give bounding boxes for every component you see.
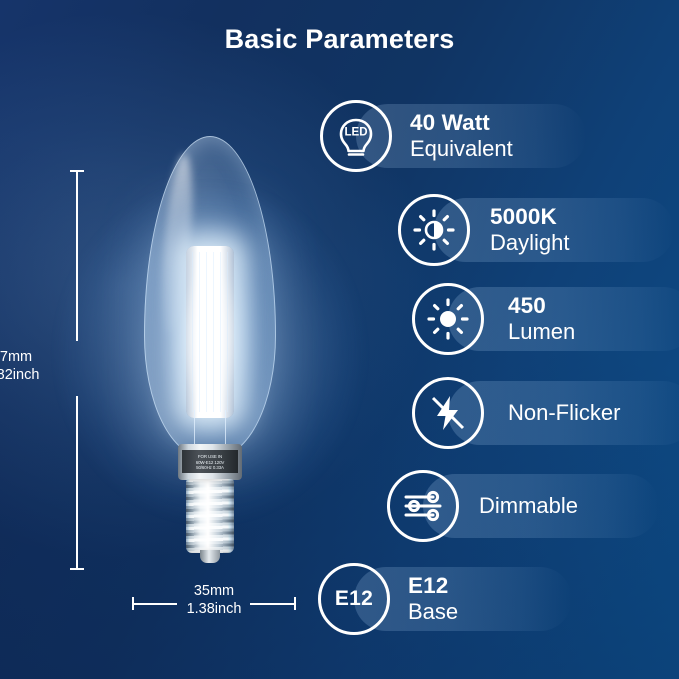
svg-text:LED: LED (345, 127, 368, 139)
base-print-line-3: 50/60Hz 0.33A (196, 465, 224, 470)
spec-text-base: E12 Base (408, 573, 458, 625)
height-dimension-label: 97mm 3.82inch (0, 348, 76, 384)
bulb-screw-threads (186, 479, 234, 553)
product-spec-infographic: Basic Parameters FOR USE IN 60W-E12 120V… (0, 0, 679, 679)
spec-row-color-temperature[interactable]: 5000K Daylight (398, 194, 679, 266)
spec-text-lumen: 450 Lumen (508, 293, 575, 345)
spec-label-wattage: Equivalent (410, 136, 513, 162)
bulb-product-image: FOR USE IN 60W-E12 120V 50/60Hz 0.33A (120, 128, 300, 568)
base-print-line-2: 60W-E12 120V (196, 460, 225, 465)
spec-text-wattage: 40 Watt Equivalent (410, 110, 513, 162)
no-flicker-icon (412, 377, 484, 449)
spec-text-non-flicker: Non-Flicker (508, 400, 620, 426)
spec-row-non-flicker[interactable]: Non-Flicker (412, 377, 679, 449)
brightness-sun-icon (412, 283, 484, 355)
width-line-left (133, 603, 177, 605)
spec-row-lumen[interactable]: 450 Lumen (412, 283, 679, 355)
spec-label-non-flicker: Non-Flicker (508, 400, 620, 426)
base-print-line-1: FOR USE IN (198, 454, 222, 459)
height-line-upper (76, 171, 78, 341)
spec-text-dimmable: Dimmable (479, 493, 578, 519)
width-cap-right (294, 597, 296, 610)
spec-label-base: Base (408, 599, 458, 625)
height-line-lower (76, 396, 78, 568)
spec-value-wattage: 40 Watt (410, 110, 513, 136)
width-dimension-label: 35mm 1.38inch (187, 582, 242, 618)
spec-text-color-temperature: 5000K Daylight (490, 204, 569, 256)
spec-label-dimmable: Dimmable (479, 493, 578, 519)
height-mm: 97mm (0, 349, 32, 365)
height-dimension-line (76, 170, 78, 570)
spec-label-color-temperature: Daylight (490, 230, 569, 256)
height-cap-bottom (70, 568, 84, 570)
bulb-filament-segments (192, 252, 228, 412)
width-inch: 1.38inch (187, 600, 242, 618)
dimmer-sliders-icon (387, 470, 459, 542)
page-title: Basic Parameters (0, 24, 679, 55)
spec-row-dimmable[interactable]: Dimmable (387, 470, 679, 542)
daylight-sun-icon (398, 194, 470, 266)
spec-value-color-temperature: 5000K (490, 204, 569, 230)
bulb-base-tip (200, 550, 220, 563)
spec-label-lumen: Lumen (508, 319, 575, 345)
height-inch: 3.82inch (0, 367, 39, 383)
led-bulb-icon: LED (320, 100, 392, 172)
e12-badge-label: E12 (318, 563, 390, 635)
spec-row-wattage[interactable]: LED 40 Watt Equivalent (320, 100, 679, 172)
bulb-base-print: FOR USE IN 60W-E12 120V 50/60Hz 0.33A (182, 450, 238, 473)
spec-row-base[interactable]: E12 E12 Base (318, 563, 679, 635)
spec-value-lumen: 450 (508, 293, 575, 319)
width-line-right (250, 603, 294, 605)
width-mm: 35mm (194, 583, 234, 599)
spec-value-base: E12 (408, 573, 458, 599)
